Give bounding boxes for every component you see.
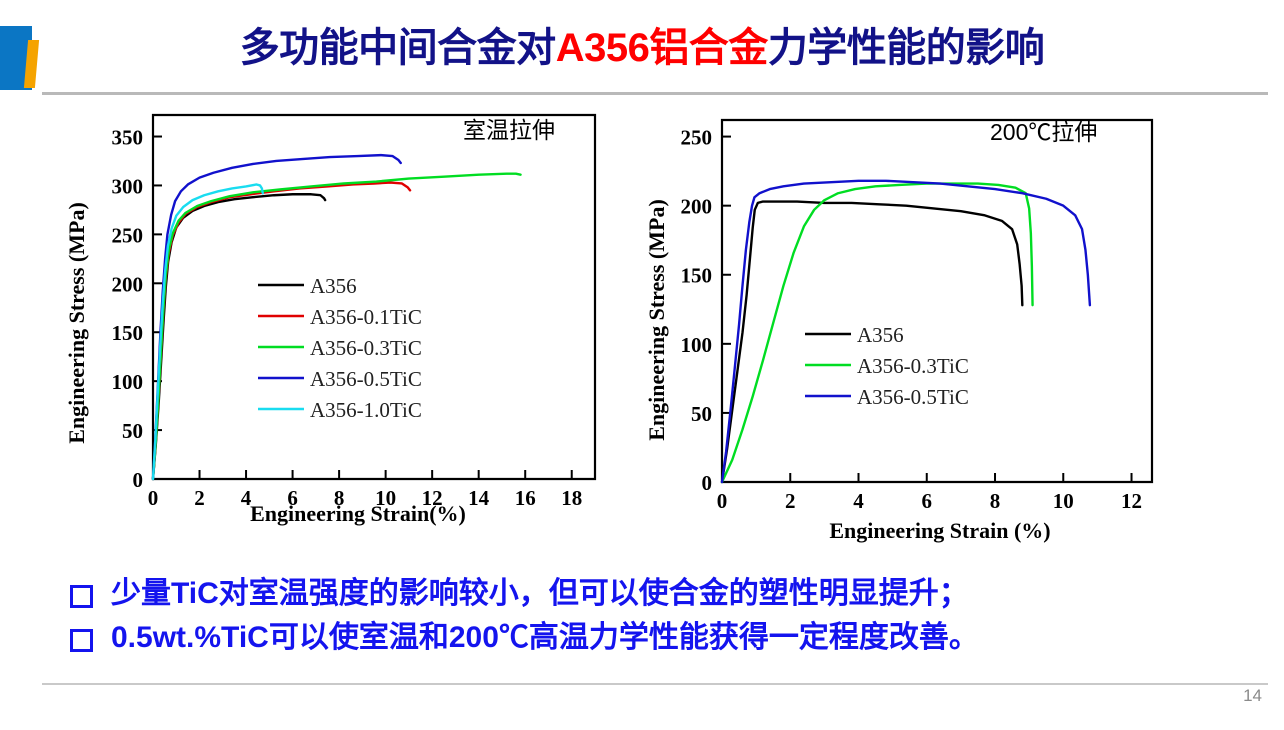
x-tick-label: 10	[1053, 489, 1074, 513]
series-curve-a356-0-1tic	[153, 183, 410, 479]
y-tick-label: 250	[112, 223, 144, 247]
legend-label: A356-0.3TiC	[310, 336, 422, 360]
y-tick-label: 100	[681, 333, 713, 357]
chart-right-yaxis-label: Engineering Stress (MPa)	[644, 199, 669, 441]
legend-label: A356-0.3TiC	[857, 354, 969, 378]
page-title: 多功能中间合金对A356铝合金力学性能的影响	[0, 18, 1284, 78]
y-tick-label: 300	[112, 174, 144, 198]
bullet-square-icon	[70, 585, 93, 608]
y-tick-label: 0	[133, 468, 144, 492]
y-tick-label: 50	[122, 419, 143, 443]
series-curve-a356-0-5tic	[722, 181, 1090, 482]
y-tick-label: 100	[112, 370, 144, 394]
bullet-square-icon	[70, 629, 93, 652]
x-tick-label: 12	[1121, 489, 1142, 513]
chart-left-svg: 024681012141618050100150200250300350 A35…	[58, 98, 628, 558]
legend-label: A356-1.0TiC	[310, 398, 422, 422]
legend-label: A356	[310, 274, 357, 298]
chart-right-svg: 024681012050100150200250 A356A356-0.3TiC…	[640, 98, 1200, 558]
legend-label: A356-0.5TiC	[857, 385, 969, 409]
y-tick-label: 150	[112, 321, 144, 345]
bullet-text: 0.5wt.%TiC可以使室温和200℃高温力学性能获得一定程度改善。	[111, 616, 979, 660]
chart-200c-tensile: 024681012050100150200250 A356A356-0.3TiC…	[640, 98, 1200, 558]
y-tick-label: 200	[112, 272, 144, 296]
y-tick-label: 200	[681, 195, 713, 219]
x-tick-label: 4	[853, 489, 864, 513]
y-tick-label: 150	[681, 264, 713, 288]
bullet-item: 0.5wt.%TiC可以使室温和200℃高温力学性能获得一定程度改善。	[70, 616, 1250, 660]
chart-left-xaxis-label: Engineering Strain(%)	[250, 501, 466, 526]
bullet-item: 少量TiC对室温强度的影响较小，但可以使合金的塑性明显提升；	[70, 572, 1250, 616]
y-tick-label: 0	[702, 471, 713, 495]
legend-label: A356	[857, 323, 904, 347]
bullet-text: 少量TiC对室温强度的影响较小，但可以使合金的塑性明显提升；	[111, 572, 969, 616]
chart-left-yaxis-label: Engineering Stress (MPa)	[64, 202, 89, 444]
conclusion-bullets: 少量TiC对室温强度的影响较小，但可以使合金的塑性明显提升； 0.5wt.%Ti…	[70, 572, 1250, 660]
x-tick-label: 2	[194, 486, 205, 510]
x-tick-label: 18	[561, 486, 582, 510]
charts-container: 024681012141618050100150200250300350 A35…	[0, 98, 1284, 558]
x-tick-label: 0	[148, 486, 159, 510]
series-curve-a356	[153, 194, 325, 479]
title-segment-3: 力学性能的影响	[768, 26, 1045, 70]
chart-room-temperature-tensile: 024681012141618050100150200250300350 A35…	[58, 98, 628, 558]
legend-label: A356-0.5TiC	[310, 367, 422, 391]
x-tick-label: 14	[468, 486, 490, 510]
x-tick-label: 2	[785, 489, 796, 513]
title-bar: 多功能中间合金对A356铝合金力学性能的影响	[0, 0, 1284, 96]
x-tick-label: 0	[717, 489, 728, 513]
chart-right-xaxis-label: Engineering Strain (%)	[829, 518, 1050, 543]
y-tick-label: 250	[681, 126, 713, 150]
y-tick-label: 350	[112, 126, 144, 150]
chart-right-annotation: 200℃拉伸	[990, 119, 1097, 145]
title-segment-2: A356铝合金	[556, 26, 768, 70]
x-tick-label: 8	[990, 489, 1001, 513]
title-segment-1: 多功能中间合金对	[240, 26, 556, 70]
x-tick-label: 16	[515, 486, 536, 510]
page-number: 14	[1243, 686, 1262, 706]
y-tick-label: 50	[691, 402, 712, 426]
legend-label: A356-0.1TiC	[310, 305, 422, 329]
x-tick-label: 6	[922, 489, 933, 513]
chart-left-annotation: 室温拉伸	[463, 117, 555, 143]
footer-divider	[42, 683, 1268, 685]
title-divider	[42, 92, 1268, 95]
